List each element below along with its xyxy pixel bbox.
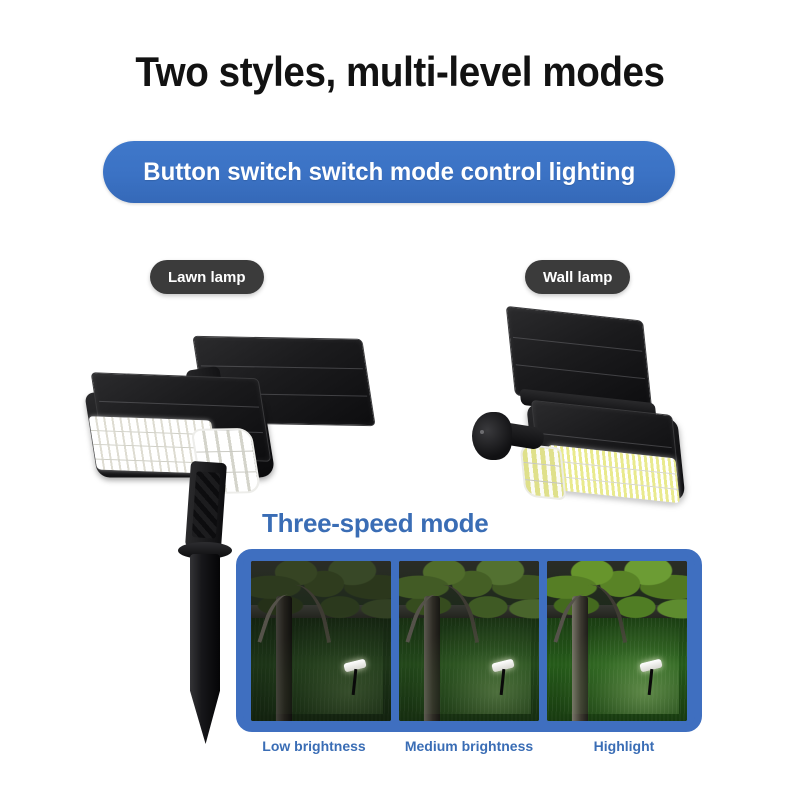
page-title: Two styles, multi-level modes: [32, 48, 768, 96]
badge-wall-label: Wall lamp: [543, 269, 612, 286]
product-infographic-page: Two styles, multi-level modes Button swi…: [0, 0, 800, 800]
spotlight-stake: [499, 669, 505, 695]
wall-lamp-image: [472, 300, 712, 520]
banner-pill: Button switch switch mode control lighti…: [103, 141, 675, 203]
spotlight-fixture: [492, 661, 514, 695]
badge-lawn-label: Lawn lamp: [168, 269, 246, 286]
badge-wall-lamp: Wall lamp: [525, 260, 630, 294]
three-speed-heading: Three-speed mode: [262, 508, 488, 539]
mode-photo-low: [251, 561, 391, 721]
caption-medium-brightness: Medium brightness: [399, 733, 539, 754]
led-lens-module: [519, 443, 566, 500]
banner-text: Button switch switch mode control lighti…: [143, 158, 635, 187]
wall-mount-bracket: [472, 412, 512, 460]
lamp-neck: [185, 461, 227, 549]
mode-photo-highlight: [547, 561, 687, 721]
spotlight-fixture: [640, 661, 662, 695]
badge-lawn-lamp: Lawn lamp: [150, 260, 264, 294]
mode-photo-medium: [399, 561, 539, 721]
spotlight-fixture: [344, 661, 366, 695]
three-speed-frame: [236, 549, 702, 732]
caption-highlight: Highlight: [554, 733, 694, 754]
caption-low-brightness: Low brightness: [244, 733, 384, 754]
ground-stake: [190, 554, 220, 744]
mode-caption-row: Low brightness Medium brightness Highlig…: [236, 733, 702, 779]
spotlight-stake: [351, 669, 357, 695]
spotlight-stake: [647, 669, 653, 695]
